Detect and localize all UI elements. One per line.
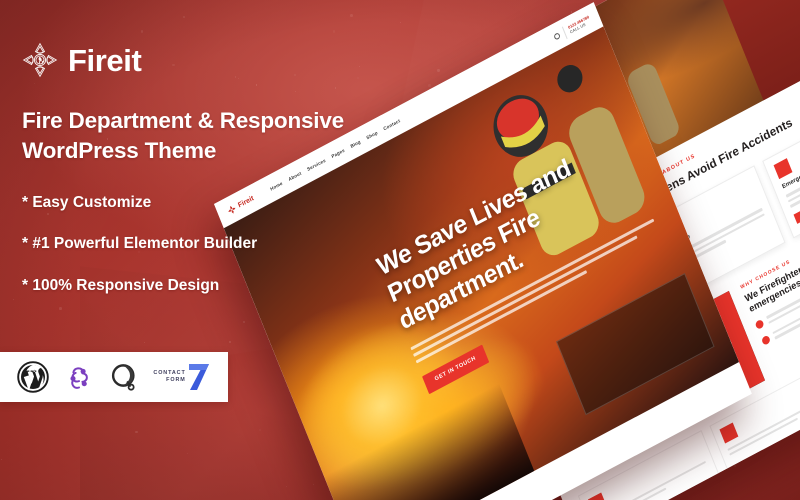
compatibility-badge-strip: CONTACT FORM (0, 352, 228, 402)
contact-form-7-icon: CONTACT FORM (153, 362, 210, 392)
mockup-nav-link-shop[interactable]: Shop (365, 130, 378, 140)
search-icon[interactable] (553, 32, 561, 40)
cf7-line-1: CONTACT (153, 370, 185, 377)
brand-lockup: Fireit (22, 42, 362, 78)
cf7-line-2: FORM (153, 377, 185, 384)
feature-list: * Easy Customize * #1 Powerful Elementor… (22, 194, 362, 296)
badge-redux[interactable] (64, 360, 94, 394)
badge-icon (588, 492, 607, 500)
cf7-numeral-7 (187, 362, 211, 392)
maltese-cross-fire-badge-icon (22, 42, 58, 78)
page-title: Fire Department & Responsive WordPress T… (22, 106, 352, 166)
slider-revolution-icon (109, 362, 139, 392)
badge-wordpress[interactable] (17, 360, 49, 394)
wordpress-icon (17, 361, 49, 393)
badge-icon (719, 422, 738, 443)
badge-slider-revolution[interactable] (109, 360, 139, 394)
text-line (598, 488, 667, 500)
feature-item-responsive-design: * 100% Responsive Design (22, 277, 362, 296)
promo-content: Fireit Fire Department & Responsive Word… (22, 0, 362, 319)
feature-item-elementor-builder: * #1 Powerful Elementor Builder (22, 235, 362, 254)
bullet-dot-icon (761, 335, 771, 346)
badge-contact-form-7[interactable]: CONTACT FORM (153, 360, 210, 394)
brand-name: Fireit (68, 45, 141, 76)
mockup-nav-link-contact[interactable]: Contact (382, 118, 400, 131)
feature-item-easy-customize: * Easy Customize (22, 194, 362, 213)
redux-icon (64, 362, 94, 392)
phone-icon (774, 159, 793, 180)
bullet-dot-icon (755, 319, 765, 330)
text-line (729, 418, 798, 456)
